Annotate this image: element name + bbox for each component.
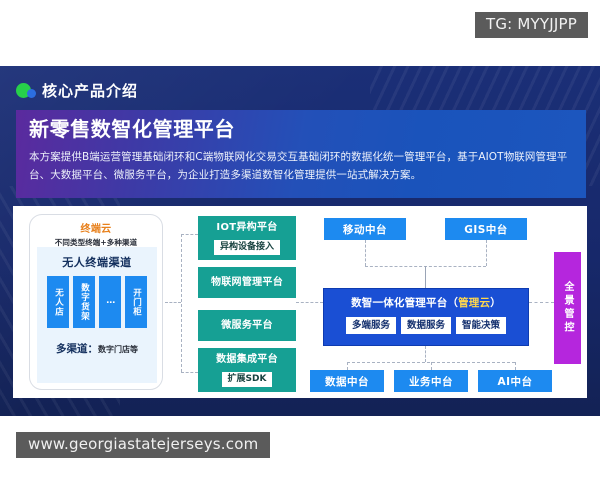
terminal-chip: 无人店 <box>47 276 69 328</box>
blue-dot-icon <box>27 89 36 98</box>
service-multi-terminal: 多端服务 <box>346 317 396 334</box>
platform-iot-sub: 异构设备接入 <box>214 240 280 255</box>
office-ai: AI中台 <box>478 370 552 392</box>
service-smart-decision: 智能决策 <box>456 317 506 334</box>
screenshot-root: TG: MYYJJPP 核心产品介绍 新零售数智化管理平台 本方案提供B端运营管… <box>0 0 600 480</box>
platform-data-integration-sub: 扩展SDK <box>222 372 273 387</box>
platform-data-integration-title: 数据集成平台 <box>200 353 294 366</box>
terminal-chip-ellipsis: … <box>99 276 121 328</box>
office-data: 数据中台 <box>310 370 384 392</box>
core-platform-title-tail: ） <box>490 297 501 309</box>
terminal-chip: 数字货架 <box>73 276 95 328</box>
connector-mobile-down <box>365 240 366 266</box>
service-data: 数据服务 <box>401 317 451 334</box>
architecture-diagram-card: 终端云 不同类型终端+多种渠道 无人终端渠道 无人店 数字货架 … 开门柜 多渠… <box>13 206 587 398</box>
terminal-chip: 开门柜 <box>125 276 147 328</box>
platform-data-integration: 数据集成平台 扩展SDK <box>198 348 296 392</box>
section-title-text: 核心产品介绍 <box>42 80 138 101</box>
multi-channel-footer: 多渠道：数字门店等 <box>37 337 157 356</box>
terminal-chip-row: 无人店 数字货架 … 开门柜 <box>37 276 157 328</box>
connector-to-data-office <box>347 362 348 370</box>
platform-iot: IOT异构平台 异构设备接入 <box>198 216 296 260</box>
multi-channel-label: 多渠道： <box>56 343 98 355</box>
connector-to-biz-office <box>431 362 432 370</box>
connector-to-ai-office <box>515 362 516 370</box>
middle-platform-column: IOT异构平台 异构设备接入 物联网管理平台 微服务平台 数据集成平台 扩展SD… <box>198 216 296 399</box>
panoramic-control-bar: 全景管控 <box>554 252 581 364</box>
office-business: 业务中台 <box>394 370 468 392</box>
core-platform-title-accent: 管理云 <box>458 297 490 309</box>
platform-iot-title: IOT异构平台 <box>200 221 294 234</box>
core-platform: 数智一体化管理平台（管理云） 多端服务 数据服务 智能决策 <box>323 288 529 346</box>
section-heading: 核心产品介绍 <box>16 80 138 101</box>
connector-cloud-to-trunk <box>165 302 181 303</box>
terminal-cloud-title: 终端云 <box>30 220 162 235</box>
platform-microservice: 微服务平台 <box>198 310 296 341</box>
platform-microservice-title: 微服务平台 <box>200 319 294 332</box>
slide-canvas: 核心产品介绍 新零售数智化管理平台 本方案提供B端运营管理基础闭环和C端物联网化… <box>0 66 600 416</box>
terminal-cloud-panel: 终端云 不同类型终端+多种渠道 无人终端渠道 无人店 数字货架 … 开门柜 多渠… <box>29 214 163 390</box>
multi-channel-value: 数字门店等 <box>98 345 138 354</box>
platform-iot-management-title: 物联网管理平台 <box>200 276 294 289</box>
platform-iot-management: 物联网管理平台 <box>198 267 296 298</box>
office-mobile: 移动中台 <box>324 218 406 240</box>
connector-core-to-sidebar <box>529 302 554 303</box>
title-banner: 新零售数智化管理平台 本方案提供B端运营管理基础闭环和C端物联网化交易交互基础闭… <box>16 110 586 198</box>
connector-trunk-to-core <box>296 302 323 303</box>
unmanned-channel-box: 无人终端渠道 无人店 数字货架 … 开门柜 多渠道：数字门店等 <box>37 247 157 383</box>
core-platform-title: 数智一体化管理平台（管理云） <box>324 295 528 310</box>
connector-trunk-vertical <box>181 234 182 372</box>
connector-trunk-to-data-integration <box>181 372 198 373</box>
connector-top-bus-to-core <box>425 266 426 288</box>
connector-trunk-to-iot <box>181 234 198 235</box>
core-platform-title-main: 数智一体化管理平台（ <box>351 297 458 309</box>
connector-core-down <box>425 346 426 362</box>
connector-gis-down <box>486 240 487 266</box>
site-watermark: www.georgiastatejerseys.com <box>16 432 270 458</box>
office-gis: GIS中台 <box>445 218 527 240</box>
core-platform-services: 多端服务 数据服务 智能决策 <box>324 317 528 334</box>
unmanned-channel-title: 无人终端渠道 <box>37 254 157 270</box>
telegram-watermark: TG: MYYJJPP <box>475 12 588 38</box>
banner-description: 本方案提供B端运营管理基础闭环和C端物联网化交易交互基础闭环的数据化统一管理平台… <box>29 148 573 185</box>
bullet-dot-icon <box>16 82 42 100</box>
banner-title: 新零售数智化管理平台 <box>29 117 573 142</box>
